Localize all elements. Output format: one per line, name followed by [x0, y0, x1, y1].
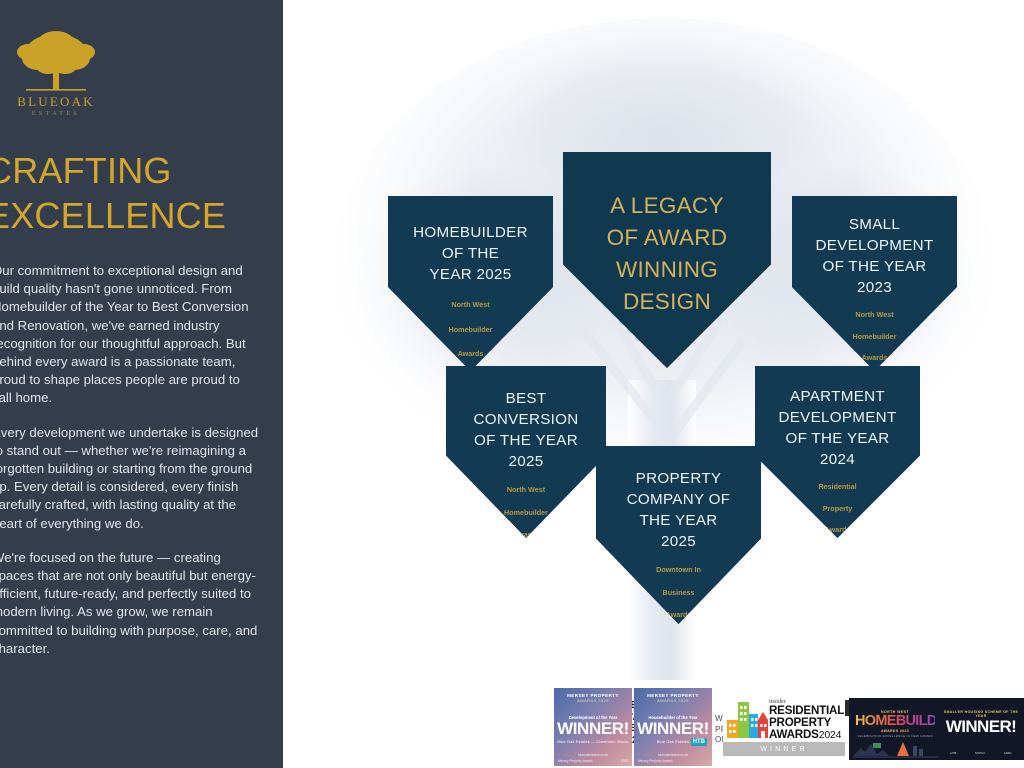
nwhb-partner-3: LABC: [1004, 751, 1012, 755]
shield-title-line-4: 2024: [755, 449, 920, 470]
insider-winner-bar: WINNER: [723, 742, 845, 756]
nwhb-right-block: SMALLER HOUSING SCHEME OF THE YEAR WINNE…: [941, 710, 1021, 736]
shield-title-line-3: YEAR 2025: [388, 264, 553, 285]
insider-winner-label: WINNER: [760, 746, 808, 753]
body-copy: Our commitment to exceptional design and…: [0, 262, 260, 674]
insider-text-block: insider RESIDENTIAL PROPERTY AWARDS2024: [769, 698, 843, 741]
logo-mersey-property-awards-winner-2[interactable]: MERSEY PROPERTY AWARDS 2025 Housebuilder…: [634, 688, 712, 766]
nwhb-wordmark: HOMEBUILDER: [855, 714, 935, 729]
winner1-header: MERSEY PROPERTY AWARDS 2025: [554, 688, 632, 708]
shield-title-line-2: COMPANY OF: [596, 489, 761, 510]
shield-title-line-2: OF THE: [388, 243, 553, 264]
oak-tree-icon: [8, 26, 104, 102]
winner2-htb-logo: HTB: [691, 738, 707, 746]
brand-subtitle: ESTATES: [8, 111, 104, 117]
awards-stage: HOMEBUILDER OF THE YEAR 2025 North West …: [283, 0, 1024, 768]
insider-awards-word: AWARDS: [769, 728, 819, 741]
logo-nw-homebuilder-awards[interactable]: NORTH WEST HOMEBUILDER AWARDS 2023 CELEB…: [849, 698, 1024, 760]
winner2-partner-logos: Mersey Property Awards: [638, 759, 708, 763]
body-paragraph-2: Every development we undertake is design…: [0, 424, 260, 533]
shield-title-line-4: 2023: [792, 277, 957, 298]
shield-title-line-4: 2025: [446, 451, 606, 472]
nwhb-winner-label: WINNER!: [941, 718, 1021, 736]
nwhb-partner-logos: HTB NSPCC LABC: [941, 751, 1021, 755]
nwhb-left-block: NORTH WEST HOMEBUILDER AWARDS 2023 CELEB…: [855, 710, 935, 738]
center-title-line-1: A LEGACY: [563, 190, 771, 222]
shield-subtitle-line-1: North West: [388, 300, 553, 310]
left-info-panel: BLUEOAK ESTATES CRAFTING EXCELLENCE Our …: [0, 0, 283, 768]
winner2-main: WINNER!: [634, 719, 712, 739]
nwhb-partner-1: HTB: [950, 751, 956, 755]
logo-mersey-property-awards-winner-1[interactable]: MERSEY PROPERTY AWARDS 2025 Development …: [554, 688, 632, 766]
nwhb-partner-2: NSPCC: [975, 751, 986, 755]
insider-year: 2024: [819, 729, 842, 741]
shield-title-line-2: DEVELOPMENT: [792, 235, 957, 256]
winner1-partner-right: 2025: [621, 759, 628, 763]
buildings-icon: [725, 698, 769, 742]
skyline-icon: [853, 738, 939, 758]
winner1-partner-left: Mersey Property Awards: [558, 759, 593, 763]
center-title-line-3: WINNING: [563, 254, 771, 286]
winner1-sub: Blue Oak Estates — Clarendon Works: [554, 740, 632, 744]
insider-line-3: AWARDS2024: [769, 729, 843, 741]
body-paragraph-3: We're focused on the future — creating s…: [0, 549, 260, 658]
winner1-top-line-2: AWARDS 2025: [577, 698, 609, 703]
brand-name: BLUEOAK: [8, 94, 104, 110]
winner1-main: WINNER!: [554, 719, 632, 739]
shield-title-line-1: PROPERTY: [596, 468, 761, 489]
winner1-foot: blueoakestates.co.uk: [554, 753, 632, 757]
shield-title-line-3: OF THE YEAR: [755, 428, 920, 449]
shield-title-line-1: BEST: [446, 388, 606, 409]
center-title-line-2: OF AWARD: [563, 222, 771, 254]
winner2-foot: blueoakestates.co.uk: [634, 753, 712, 757]
shield-title-line-1: APARTMENT: [755, 386, 920, 407]
winner1-partner-logos: Mersey Property Awards 2025: [558, 759, 628, 763]
shield-title-line-1: SMALL: [792, 214, 957, 235]
headline-line-2: EXCELLENCE: [0, 193, 283, 238]
shield-title-line-2: DEVELOPMENT: [755, 407, 920, 428]
shield-title-line-3: THE YEAR: [596, 510, 761, 531]
headline-line-1: CRAFTING: [0, 148, 283, 193]
shield-title-line-3: OF THE YEAR: [446, 430, 606, 451]
body-paragraph-1: Our commitment to exceptional design and…: [0, 262, 260, 408]
shield-title-line-2: CONVERSION: [446, 409, 606, 430]
logo-insider-residential-property-awards[interactable]: insider RESIDENTIAL PROPERTY AWARDS2024 …: [723, 694, 845, 760]
shield-title-line-1: HOMEBUILDER: [388, 222, 553, 243]
winner2-partner-left: Mersey Property Awards: [638, 759, 673, 763]
shield-title-line-3: OF THE YEAR: [792, 256, 957, 277]
winner2-header: MERSEY PROPERTY AWARDS 2025: [634, 688, 712, 708]
page-headline: CRAFTING EXCELLENCE: [0, 148, 283, 238]
shield-title-line-4: 2025: [596, 531, 761, 552]
nwhb-sub-1: AWARDS 2023: [855, 729, 935, 733]
winner2-top-line-2: AWARDS 2025: [657, 698, 689, 703]
